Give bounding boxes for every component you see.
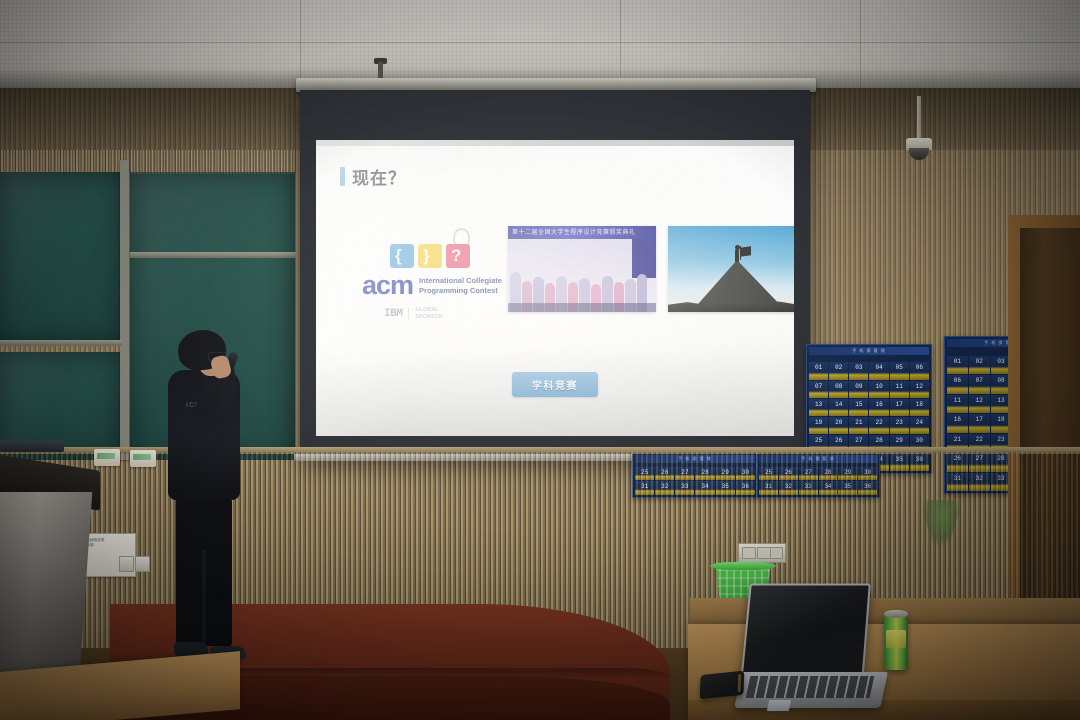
laptop-sticker (767, 700, 791, 711)
pocket-chart-cell: 13 (809, 399, 828, 416)
shelf-box-2 (130, 450, 156, 467)
outlet-socket-2[interactable] (757, 547, 771, 559)
camera-mount-arm (917, 96, 921, 142)
smartphone-edge (738, 674, 742, 692)
outlet-socket-3[interactable] (770, 547, 783, 559)
mark-glyph-1: { (395, 246, 402, 266)
chalk-rail-center (130, 252, 296, 258)
pocket-chart-cell: 05 (890, 362, 909, 379)
pocket-chart-cell: 22 (869, 417, 888, 434)
laptop-keyboard[interactable] (746, 676, 875, 698)
pocket-chart-cell: 09 (849, 381, 868, 398)
pocket-chart-cell: 08 (829, 381, 848, 398)
pocket-chart-cell: 12 (910, 381, 929, 398)
sponsor-line2: SPONSOR (415, 314, 443, 321)
icpc-subtitle: International Collegiate Programming Con… (419, 276, 502, 295)
pocket-chart-cell: 07 (969, 375, 990, 394)
pocket-chart-cell: 21 (849, 417, 868, 434)
group-photo-banner-text: 第十二届全国大学生程序设计竞赛颁奖典礼 (512, 227, 648, 236)
icpc-mark-red: ? (446, 244, 470, 268)
mark-glyph-2: } (423, 246, 430, 266)
acm-wordmark: acm (362, 272, 413, 299)
slide-cta-button[interactable]: 学科竞赛 (512, 372, 598, 397)
slide-photo-group: 第十二届全国大学生程序设计竞赛颁奖典礼 (508, 226, 656, 312)
icpc-subtitle-line2: Programming Contest (419, 286, 502, 296)
pocket-chart-cell: 02 (969, 356, 990, 375)
group-photo-stage-floor (508, 303, 656, 312)
wastebasket-rim (710, 562, 776, 570)
chalk-rail-left (0, 340, 122, 346)
sponsor-text: GLOBAL SPONSOR (415, 307, 443, 320)
pocket-chart-cell: 01 (809, 362, 828, 379)
pocket-chart-cell: 11 (890, 381, 909, 398)
beverage-can-label (886, 630, 906, 648)
shelf-box-1 (94, 449, 120, 466)
pocket-chart-cell: 11 (947, 395, 968, 414)
icpc-mark-yellow: } (418, 244, 442, 268)
beverage-can-top (884, 610, 908, 618)
summit-figure-body (735, 249, 739, 262)
pocket-chart-cell: 16 (947, 414, 968, 433)
pocket-chart-cell: 15 (849, 399, 868, 416)
light-switch-2[interactable] (135, 556, 150, 572)
icpc-balloon-marks: { } ? (390, 236, 502, 270)
acm-wordmark-row: acm International Collegiate Programming… (362, 272, 502, 299)
projector-screen[interactable]: 现在？ { } ? acm (300, 90, 810, 457)
mark-glyph-3: ? (451, 246, 461, 266)
presenter: ICPC (160, 330, 260, 670)
pocket-chart-cell: 17 (969, 414, 990, 433)
smartphone[interactable] (700, 671, 745, 700)
summit-figure-head (735, 245, 740, 250)
pocket-chart-header: 手 机 保 管 袋 (809, 347, 929, 355)
presenter-leg-split (202, 550, 206, 646)
slide-title: 现在？ (352, 164, 406, 189)
pocket-chart-cell: 23 (890, 417, 909, 434)
pocket-chart-cell: 17 (890, 399, 909, 416)
pocket-chart-cell: 18 (910, 399, 929, 416)
ibm-logo: IBM (384, 308, 402, 320)
light-switch-1[interactable] (119, 556, 134, 572)
pocket-chart-cell: 03 (849, 362, 868, 379)
pocket-chart-cell: 16 (869, 399, 888, 416)
wall-trim-center (130, 150, 296, 174)
group-photo-banner: 第十二届全国大学生程序设计竞赛颁奖典礼 (508, 226, 656, 239)
pocket-chart-cell: 07 (809, 381, 828, 398)
pocket-chart-cell: 06 (947, 375, 968, 394)
pocket-chart-cell: 01 (947, 356, 968, 375)
acm-icpc-logo: { } ? acm International Collegiate Progr… (362, 236, 502, 320)
slide-title-row: 现在？ (340, 164, 406, 189)
pocket-chart-cell: 14 (829, 399, 848, 416)
pocket-chart-cell: 12 (969, 395, 990, 414)
side-shelf (0, 440, 64, 452)
sponsor-separator (408, 308, 409, 319)
laptop-lid[interactable] (740, 584, 871, 684)
title-accent-bar (340, 167, 345, 186)
summit-flag (740, 246, 751, 257)
pocket-chart-cell: 04 (869, 362, 888, 379)
pocket-chart-cell: 10 (869, 381, 888, 398)
chalkboard-left (0, 172, 120, 342)
sponsor-row: IBM GLOBAL SPONSOR (384, 307, 502, 320)
icpc-mark-blue: { (390, 244, 414, 268)
icpc-subtitle-line1: International Collegiate (419, 276, 502, 286)
pocket-chart-cell: 19 (809, 417, 828, 434)
projected-slide: 现在？ { } ? acm (316, 140, 794, 436)
outlet-socket-1[interactable] (742, 547, 756, 559)
group-photo-people (508, 256, 656, 312)
pocket-chart-cell: 20 (829, 417, 848, 434)
podium-shading (0, 492, 92, 672)
pocket-chart-cell: 24 (910, 417, 929, 434)
pocket-chart-cell: 06 (910, 362, 929, 379)
projection-top-band (316, 140, 794, 146)
pocket-chart-cell: 02 (829, 362, 848, 379)
slide-photo-summit (668, 226, 794, 312)
board-divider (120, 160, 129, 460)
lecture-hall-scene: 现在？ { } ? acm (0, 0, 1080, 720)
sponsor-line1: GLOBAL (415, 307, 443, 314)
laptop-screen[interactable] (742, 585, 868, 681)
